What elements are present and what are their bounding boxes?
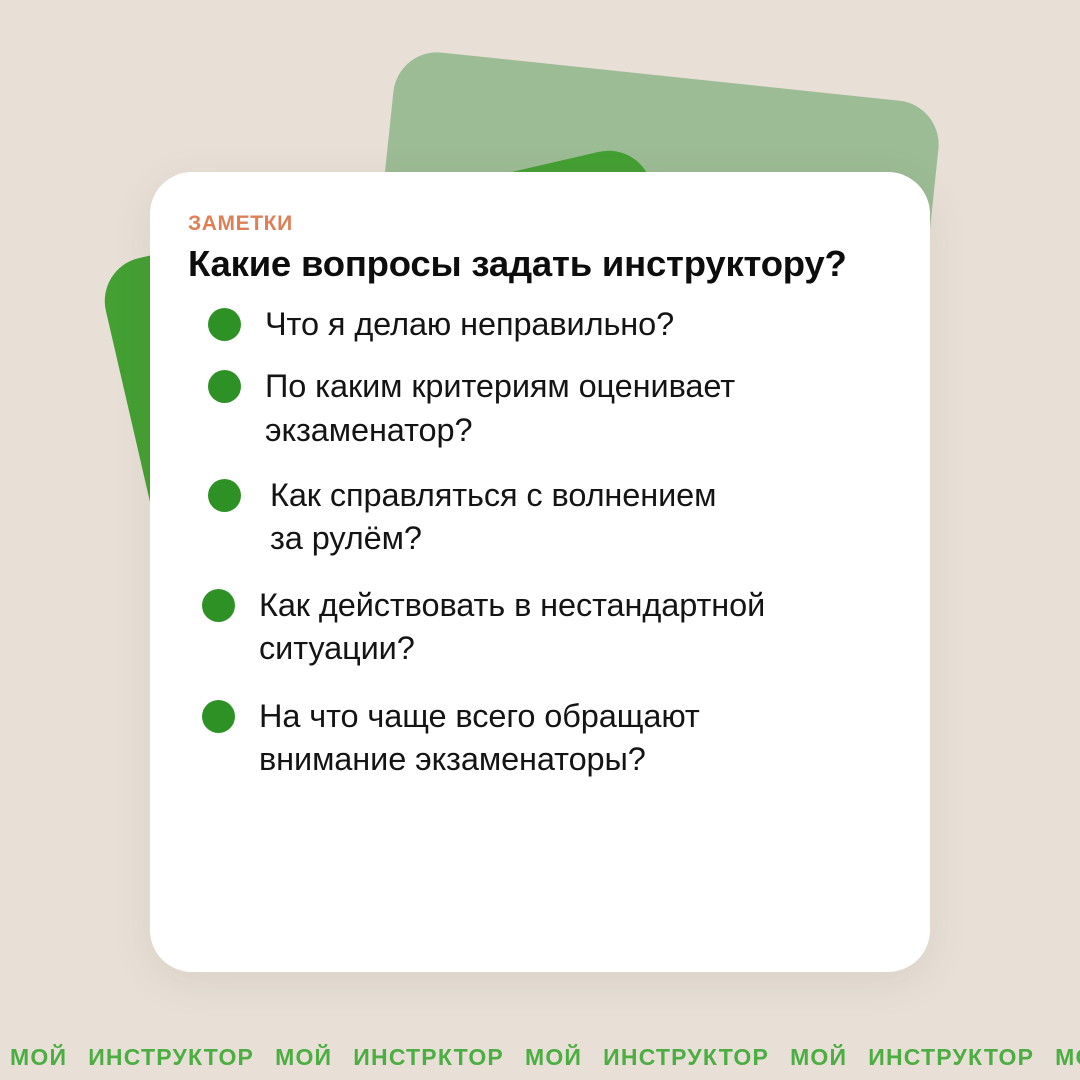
list-item: Как справляться с волнением за рулём? (188, 474, 888, 560)
note-eyebrow-label: ЗАМЕТКИ (188, 212, 888, 235)
bullet-dot-icon (208, 308, 241, 341)
list-item: Как действовать в нестандартной ситуации… (188, 584, 888, 670)
list-item-text: Как справляться с волнением за рулём? (188, 474, 888, 560)
brand-ticker-word: МОЙ (1055, 1044, 1080, 1071)
brand-ticker: МОЙИНСТРУКТОРМОЙИНСТРКТОРМОЙИНСТРУКТОРМО… (0, 1034, 1080, 1080)
list-item-text: На что чаще всего обращают внимание экза… (188, 695, 888, 781)
list-item-text: Что я делаю неправильно? (188, 303, 888, 346)
note-card-content: ЗАМЕТКИ Какие вопросы задать инструктору… (150, 172, 930, 972)
bullet-dot-icon (202, 700, 235, 733)
brand-ticker-word: ИНСТРУКТОР (603, 1044, 769, 1071)
bullet-dot-icon (202, 589, 235, 622)
list-item: На что чаще всего обращают внимание экза… (188, 695, 888, 781)
bullet-dot-icon (208, 479, 241, 512)
brand-ticker-word: МОЙ (525, 1044, 582, 1071)
note-card: ЗАМЕТКИ Какие вопросы задать инструктору… (150, 172, 930, 972)
list-item: Что я делаю неправильно? (188, 303, 888, 346)
brand-ticker-word: МОЙ (275, 1044, 332, 1071)
brand-ticker-word: МОЙ (790, 1044, 847, 1071)
brand-ticker-word: ИНСТРУКТОР (868, 1044, 1034, 1071)
brand-ticker-word: ИНСТРКТОР (353, 1044, 504, 1071)
list-item-text: По каким критериям оценивает экзаменатор… (188, 365, 888, 451)
list-item-text: Как действовать в нестандартной ситуации… (188, 584, 888, 670)
brand-ticker-track: МОЙИНСТРУКТОРМОЙИНСТРКТОРМОЙИНСТРУКТОРМО… (0, 1044, 1080, 1071)
question-list: Что я делаю неправильно? По каким критер… (188, 303, 888, 781)
page-title: Какие вопросы задать инструктору? (188, 243, 888, 285)
poster-canvas: ЗАМЕТКИ Какие вопросы задать инструктору… (0, 0, 1080, 1080)
list-item: По каким критериям оценивает экзаменатор… (188, 365, 888, 451)
brand-ticker-word: МОЙ (10, 1044, 67, 1071)
brand-ticker-word: ИНСТРУКТОР (88, 1044, 254, 1071)
